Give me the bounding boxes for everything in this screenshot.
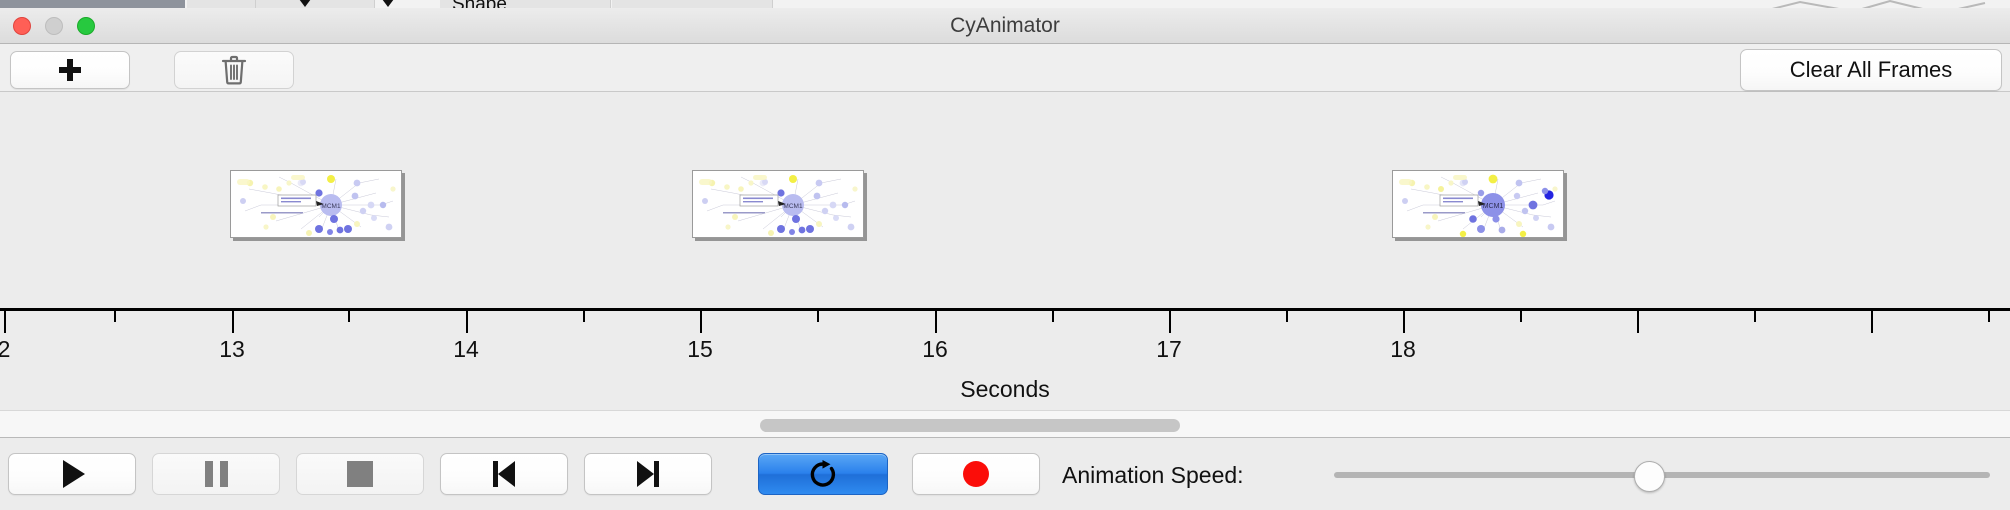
axis-tick-label: 14 xyxy=(453,336,479,363)
stop-button[interactable] xyxy=(296,453,424,495)
plus-icon xyxy=(58,58,82,82)
axis-major-tick xyxy=(466,311,468,333)
network-graph-preview: MCM1 xyxy=(231,171,402,238)
loop-icon xyxy=(807,459,839,489)
axis-tick-label: 13 xyxy=(219,336,245,363)
skip-forward-button[interactable] xyxy=(584,453,712,495)
animation-speed-label: Animation Speed: xyxy=(1062,462,1244,489)
stop-icon xyxy=(347,461,373,487)
trash-icon xyxy=(221,55,247,85)
axis-major-tick xyxy=(935,311,937,333)
timeline-frame-thumbnail[interactable]: MCM1 xyxy=(230,170,402,238)
record-icon xyxy=(963,461,989,487)
axis-major-tick xyxy=(1871,311,1873,333)
axis-minor-tick xyxy=(114,311,116,322)
network-graph-preview: MCM1 xyxy=(1393,171,1564,238)
background-caret-icon xyxy=(299,0,311,7)
clear-all-frames-label: Clear All Frames xyxy=(1790,57,1953,83)
skip-forward-icon xyxy=(635,461,661,487)
axis-tick-label: 18 xyxy=(1390,336,1416,363)
axis-minor-tick xyxy=(817,311,819,322)
svg-text:MCM1: MCM1 xyxy=(1483,203,1504,210)
pause-button[interactable] xyxy=(152,453,280,495)
axis-title: Seconds xyxy=(0,376,2010,403)
pause-icon xyxy=(205,461,228,487)
record-button[interactable] xyxy=(912,453,1040,495)
scrollbar-thumb[interactable] xyxy=(760,419,1180,432)
axis-major-tick xyxy=(4,311,6,333)
window-title: CyAnimator xyxy=(0,14,2010,38)
axis-minor-tick xyxy=(1754,311,1756,322)
background-caret-icon xyxy=(382,0,394,7)
timeline-frame-thumbnail[interactable]: MCM1 xyxy=(1392,170,1564,238)
svg-text:MCM1: MCM1 xyxy=(321,203,341,210)
play-button[interactable] xyxy=(8,453,136,495)
play-icon xyxy=(63,460,85,488)
axis-major-tick xyxy=(232,311,234,333)
svg-text:MCM1: MCM1 xyxy=(783,203,803,210)
frame-toolbar: Clear All Frames xyxy=(0,44,2010,92)
axis-major-tick xyxy=(700,311,702,333)
axis-major-tick xyxy=(1169,311,1171,333)
axis-major-tick xyxy=(1403,311,1405,333)
axis-major-tick xyxy=(1637,311,1639,333)
axis-minor-tick xyxy=(1052,311,1054,322)
cyanimator-window: Shape CyAnimator Clear All Frames xyxy=(0,0,2010,510)
animation-speed-slider-thumb[interactable] xyxy=(1634,461,1665,492)
axis-minor-tick xyxy=(348,311,350,322)
timeline-frame-thumbnail[interactable]: MCM1 xyxy=(692,170,864,238)
skip-backward-icon xyxy=(491,461,517,487)
timeline-panel[interactable]: MCM1 xyxy=(0,92,2010,410)
axis-minor-tick xyxy=(1520,311,1522,322)
clear-all-frames-button[interactable]: Clear All Frames xyxy=(1740,49,2002,91)
axis-tick-label: 17 xyxy=(1156,336,1182,363)
timeline-horizontal-scrollbar[interactable] xyxy=(0,410,2010,438)
axis-tick-label: 16 xyxy=(922,336,948,363)
axis-minor-tick xyxy=(1286,311,1288,322)
timeline-axis-line xyxy=(0,308,2010,311)
loop-button[interactable] xyxy=(758,453,888,495)
add-frame-button[interactable] xyxy=(10,51,130,89)
axis-tick-label: 2 xyxy=(0,336,10,363)
axis-minor-tick xyxy=(583,311,585,322)
playback-toolbar: Animation Speed: xyxy=(0,438,2010,510)
axis-minor-tick xyxy=(1988,311,1990,322)
title-bar: CyAnimator xyxy=(0,8,2010,44)
skip-backward-button[interactable] xyxy=(440,453,568,495)
delete-frame-button[interactable] xyxy=(174,51,294,89)
network-graph-preview: MCM1 xyxy=(693,171,864,238)
axis-tick-label: 15 xyxy=(687,336,713,363)
